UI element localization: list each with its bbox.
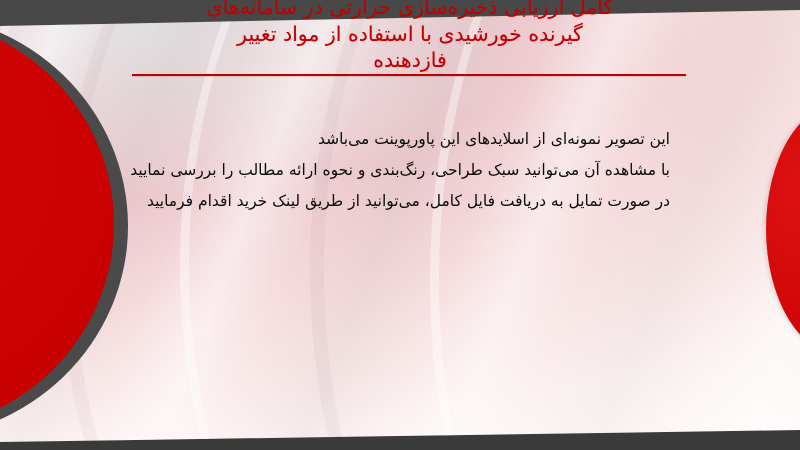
body-line-2: با مشاهده آن می‌توانید سبک طراحی، رنگ‌بن… xyxy=(130,155,670,186)
title-divider-line xyxy=(132,74,686,76)
title-line-2: گیرنده خورشیدی با استفاده از مواد تغییر xyxy=(140,21,680,48)
title-line-3: فازدهنده xyxy=(140,47,680,74)
title-line-1: کامل ارزیابی ذخیره‌سازی حرارتی در سامانه… xyxy=(140,0,680,21)
slide-body-text: این تصویر نمونه‌ای از اسلایدهای این پاور… xyxy=(130,124,670,217)
slide-title: کامل ارزیابی ذخیره‌سازی حرارتی در سامانه… xyxy=(140,0,680,74)
body-line-3: در صورت تمایل به دریافت فایل کامل، می‌تو… xyxy=(130,186,670,217)
body-line-1: این تصویر نمونه‌ای از اسلایدهای این پاور… xyxy=(130,124,670,155)
presentation-slide: کامل ارزیابی ذخیره‌سازی حرارتی در سامانه… xyxy=(0,0,800,450)
